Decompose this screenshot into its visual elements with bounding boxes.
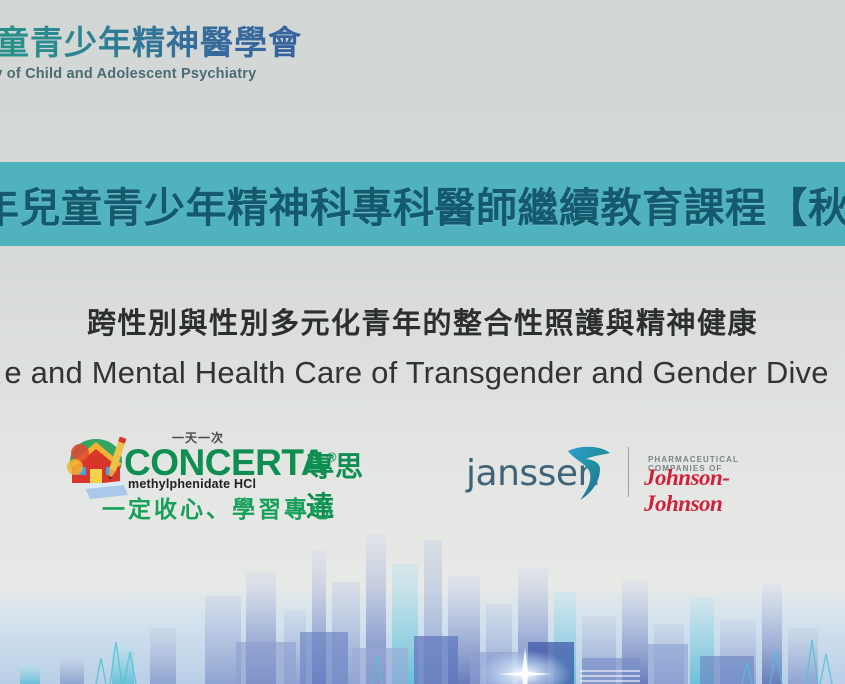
concerta-slogan: 一定收心、學習專心 xyxy=(102,490,336,524)
presentation-slide: 灣兒童青少年精神醫學會 he Society of Child and Adol… xyxy=(0,0,845,684)
lecture-title-cn: 跨性別與性別多元化青年的整合性照護與精神健康 xyxy=(0,300,845,342)
johnson-and-johnson-wordmark: Johnson-Johnson xyxy=(644,465,796,517)
city-skyline-illustration xyxy=(0,524,845,684)
lecture-title-en: e and Mental Health Care of Transgender … xyxy=(0,355,839,391)
sponsor-logo-row: 一天一次 CONCERTA® 專思達 methylphenidate HCl 一… xyxy=(0,425,845,535)
concerta-generic-name: methylphenidate HCl xyxy=(128,477,256,491)
society-name-cn: 灣兒童青少年精神醫學會 xyxy=(0,22,328,63)
janssen-swoosh-icon xyxy=(566,443,614,501)
course-banner: 年兒童青少年精神科專科醫師繼續教育課程【秋 xyxy=(0,162,845,246)
society-logo: 灣兒童青少年精神醫學會 he Society of Child and Adol… xyxy=(0,22,328,82)
society-name-en: he Society of Child and Adolescent Psych… xyxy=(0,66,328,82)
janssen-logo: janssen PHARMACEUTICAL COMPANIES OF John… xyxy=(466,443,796,513)
course-banner-text: 年兒童青少年精神科專科醫師繼續教育課程【秋 xyxy=(0,174,845,234)
title-block: 跨性別與性別多元化青年的整合性照護與精神健康 e and Mental Heal… xyxy=(0,300,845,391)
logo-divider xyxy=(628,447,629,497)
concerta-logo: 一天一次 CONCERTA® 專思達 methylphenidate HCl 一… xyxy=(62,427,392,532)
